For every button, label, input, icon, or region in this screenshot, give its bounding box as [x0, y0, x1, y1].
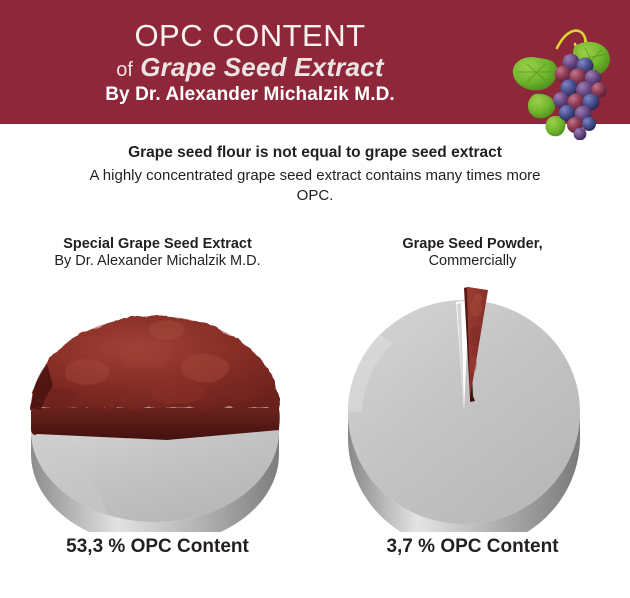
pie-left-slice-opc — [30, 316, 279, 440]
page-subtitle-emphasis: Grape Seed Extract — [140, 52, 384, 82]
pie-right-slice-other — [347, 300, 579, 532]
chart-value-left: 53,3 % OPC Content — [0, 536, 315, 558]
lead-headline: Grape seed flour is not equal to grape s… — [0, 144, 630, 162]
chart-subtitle-left: By Dr. Alexander Michalzik M.D. — [0, 253, 315, 270]
pie-left-slice-other — [31, 430, 279, 532]
chart-value-right: 3,7 % OPC Content — [315, 536, 630, 558]
pie-chart-left — [0, 282, 315, 537]
chart-title-right: Grape Seed Powder, — [315, 236, 630, 253]
chart-special-grape-seed-extract: Special Grape Seed Extract By Dr. Alexan… — [0, 236, 315, 576]
lead-paragraph: Grape seed flour is not equal to grape s… — [0, 144, 630, 206]
pie-chart-right — [315, 282, 630, 537]
page-subtitle-prefix: of — [116, 59, 133, 81]
page-title: OPC CONTENT — [134, 20, 365, 51]
header-banner: OPC CONTENT of Grape Seed Extract By Dr.… — [0, 0, 630, 124]
chart-title-left: Special Grape Seed Extract — [0, 236, 315, 253]
chart-grape-seed-powder-commercial: Grape Seed Powder, Commercially — [315, 236, 630, 576]
grape-cluster-icon — [505, 18, 630, 140]
header-text-block: OPC CONTENT of Grape Seed Extract By Dr.… — [0, 0, 500, 124]
page-byline: By Dr. Alexander Michalzik M.D. — [105, 85, 395, 104]
lead-body: A highly concentrated grape seed extract… — [85, 166, 545, 206]
pie-right-svg — [328, 282, 618, 532]
chart-subtitle-right: Commercially — [315, 253, 630, 270]
pie-left-svg — [13, 282, 303, 532]
page-subtitle: of Grape Seed Extract — [116, 54, 383, 80]
